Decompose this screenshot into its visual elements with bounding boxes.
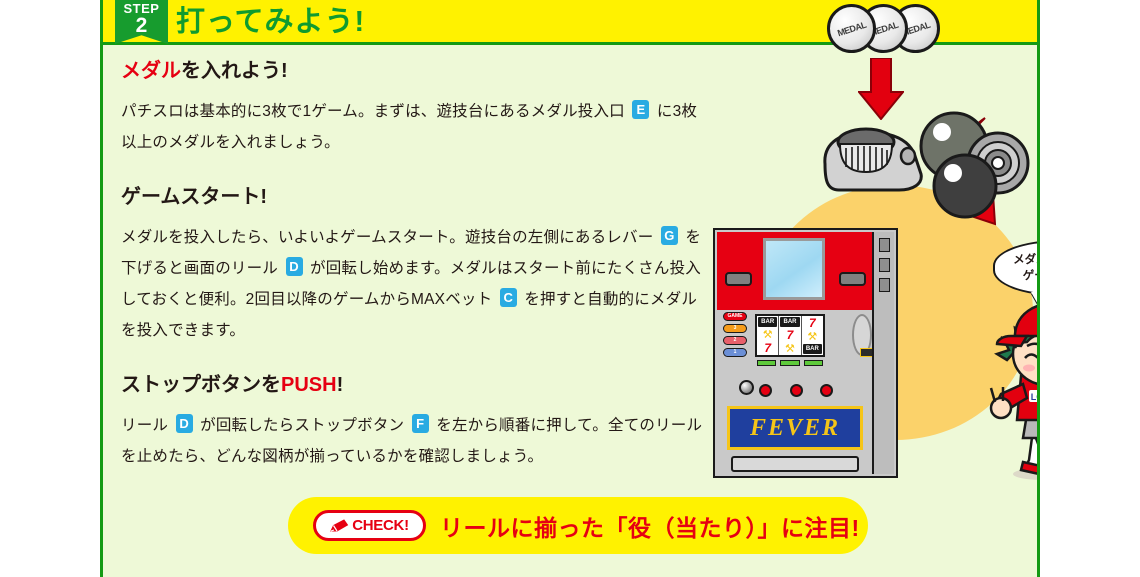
key-badge-c[interactable]: C bbox=[500, 288, 517, 307]
reel-symbol: BAR bbox=[803, 344, 822, 354]
key-badge-d[interactable]: D bbox=[176, 414, 193, 433]
section-body: メダルを投入したら、いよいよゲームスタート。遊技台の左側にあるレバー G を下げ… bbox=[121, 222, 711, 346]
machine-reels: BAR ⚒ 7 BAR 7 ⚒ 7 ⚒ BAR bbox=[755, 314, 825, 357]
machine-top-panel bbox=[717, 232, 874, 310]
body-text-part: メダルを投入したら、いよいよゲームスタート。遊技台の左側にあるレバー bbox=[121, 229, 658, 246]
speech-bubble-text: メダルを投入してゲームに挑戦! bbox=[1013, 252, 1040, 284]
medal-coin: MEDAL bbox=[827, 4, 876, 53]
section-stop-button: ストップボタンをPUSH! リール D が回転したらストップボタン F を左から… bbox=[121, 372, 711, 472]
reel-symbol: 7 bbox=[757, 341, 778, 355]
check-callout-bar: CHECK! リールに揃った「役（当たり）」に注目! bbox=[288, 497, 868, 554]
check-badge: CHECK! bbox=[313, 510, 426, 541]
medal-label: MEDAL bbox=[836, 19, 867, 38]
lever-knobs-icon bbox=[908, 108, 1038, 223]
stop-button-3[interactable] bbox=[820, 384, 833, 397]
check-badge-label: CHECK! bbox=[352, 517, 409, 534]
arrow-down-icon bbox=[858, 58, 904, 120]
lamp-game: GAME bbox=[723, 312, 747, 321]
speaker-left-icon bbox=[725, 272, 752, 286]
section-heading: ストップボタンをPUSH! bbox=[121, 372, 711, 398]
reel-symbol: BAR bbox=[780, 317, 799, 327]
key-badge-g[interactable]: G bbox=[661, 226, 678, 245]
step-ribbon-badge: STEP 2 bbox=[115, 0, 168, 44]
speaker-right-icon bbox=[839, 272, 866, 286]
pencil-icon bbox=[330, 519, 350, 533]
lamp-bet-2: 2 bbox=[723, 336, 747, 345]
reel-symbol: 7 bbox=[779, 328, 800, 342]
reel-3: 7 ⚒ BAR bbox=[802, 316, 823, 355]
fever-text: FEVER bbox=[750, 415, 840, 442]
lever-ball-icon[interactable] bbox=[739, 380, 754, 395]
stop-button-1[interactable] bbox=[759, 384, 772, 397]
section-heading: ゲームスタート! bbox=[121, 184, 711, 210]
instructions-column: メダルを入れよう! パチスロは基本的に3枚で1ゲーム。まずは、遊技台にあるメダル… bbox=[121, 58, 711, 498]
body-text-part: パチスロは基本的に3枚で1ゲーム。まずは、遊技台にあるメダル投入口 bbox=[121, 103, 629, 120]
heading-suffix: ! bbox=[337, 374, 344, 396]
machine-lamp-panel: GAME 3 2 1 bbox=[723, 312, 749, 370]
reel-symbol: BAR bbox=[758, 317, 777, 327]
mascot-character: LOVE bbox=[981, 302, 1040, 480]
page-title: 打ってみよう! bbox=[176, 3, 365, 42]
machine-screen bbox=[763, 238, 825, 300]
page-root: STEP 2 打ってみよう! メダルを入れよう! パチスロは基本的に3枚で1ゲー… bbox=[0, 0, 1140, 577]
reel-symbol: ⚒ bbox=[757, 328, 778, 341]
section-game-start: ゲームスタート! メダルを投入したら、いよいよゲームスタート。遊技台の左側にある… bbox=[121, 184, 711, 346]
heading-rest: を入れよう! bbox=[181, 60, 288, 82]
reel-symbol: 7 bbox=[802, 316, 823, 330]
check-message: リールに揃った「役（当たり）」に注目! bbox=[440, 509, 860, 543]
body-text-part: リール bbox=[121, 417, 173, 434]
reel-2: BAR 7 ⚒ bbox=[779, 316, 801, 355]
machine-fever-panel: FEVER bbox=[727, 406, 863, 450]
machine-coin-tray bbox=[731, 456, 859, 472]
lamp-bet-1: 1 bbox=[723, 348, 747, 357]
section-body: パチスロは基本的に3枚で1ゲーム。まずは、遊技台にあるメダル投入口 E に3枚以… bbox=[121, 96, 711, 158]
section-body: リール D が回転したらストップボタン F を左から順番に押して。全てのリールを… bbox=[121, 410, 711, 472]
stop-button-2[interactable] bbox=[790, 384, 803, 397]
key-badge-e[interactable]: E bbox=[632, 100, 649, 119]
heading-highlight: PUSH bbox=[281, 374, 337, 396]
shirt-text: LOVE bbox=[1031, 392, 1040, 402]
heading-highlight: メダル bbox=[121, 60, 181, 82]
key-badge-f[interactable]: F bbox=[412, 414, 429, 433]
reel-1: BAR ⚒ 7 bbox=[757, 316, 779, 355]
section-heading: メダルを入れよう! bbox=[121, 58, 711, 84]
step-card: STEP 2 打ってみよう! メダルを入れよう! パチスロは基本的に3枚で1ゲー… bbox=[100, 0, 1040, 577]
machine-indicator-lights bbox=[757, 360, 823, 366]
lamp-bet-3: 3 bbox=[723, 324, 747, 333]
heading-prefix: ストップボタンを bbox=[121, 374, 281, 396]
reel-symbol: ⚒ bbox=[779, 342, 800, 355]
step-number: 2 bbox=[115, 16, 168, 35]
key-badge-d[interactable]: D bbox=[286, 257, 303, 276]
reel-symbol: ⚒ bbox=[802, 330, 823, 343]
section-insert-medal: メダルを入れよう! パチスロは基本的に3枚で1ゲーム。まずは、遊技台にあるメダル… bbox=[121, 58, 711, 158]
body-text-part: が回転したらストップボタン bbox=[196, 417, 409, 434]
slot-machine: GAME 3 2 1 BAR ⚒ 7 BAR 7 ⚒ bbox=[713, 228, 898, 478]
machine-stop-buttons[interactable] bbox=[759, 382, 833, 398]
machine-side-column bbox=[872, 232, 894, 474]
heading-rest: ゲームスタート! bbox=[121, 186, 267, 208]
illustration-area: MEDAL MEDAL MEDAL bbox=[703, 0, 1040, 500]
